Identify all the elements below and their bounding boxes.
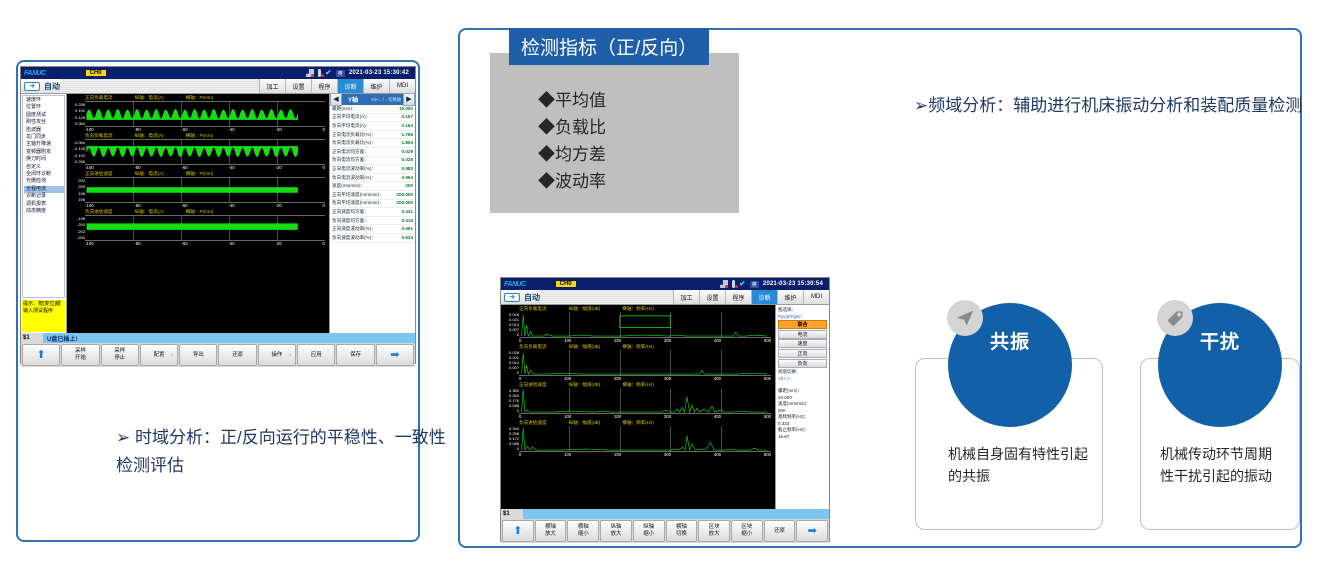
charts-area-freqdomain: 正向负载电流 纵轴：幅值(dB) 横轴：频率(Hz) 0.028 0.021 0… bbox=[501, 305, 775, 509]
ytick: 0 bbox=[501, 446, 519, 451]
data-row: 正向平均速度(mm/min)：200.000 bbox=[330, 191, 415, 200]
titlebar: FANUC CH0 ✔ 英 2021-03-23 15:30:42 bbox=[21, 67, 415, 79]
data-label: 正向电流波动率(%)： bbox=[332, 166, 400, 172]
data-value: 0.983 bbox=[400, 166, 414, 172]
xtick: -20 bbox=[276, 241, 282, 246]
data-label: 螺距(mm)： bbox=[332, 106, 397, 112]
ytick: -200 bbox=[67, 222, 85, 227]
fn-sampling-stop[interactable]: 采样 停止 bbox=[101, 344, 139, 366]
chart-header-4: 负向进给速度 纵轴：电流(A) 横轴：P(mm) bbox=[67, 208, 329, 215]
status-bar-2: $1 bbox=[501, 509, 829, 519]
data-row: 负向电流均方差：0.028 bbox=[330, 157, 415, 166]
fft-yticks-2: 0.028 0.021 0.014 0.007 0 bbox=[501, 350, 519, 375]
mode-bar: ➜ 自动 加工 设置 程序 诊断 维护 MDI bbox=[21, 79, 415, 94]
ytick: -204 bbox=[67, 235, 85, 240]
param-label-pitch: 螺距(mm)： bbox=[777, 388, 828, 395]
mode-filler bbox=[60, 79, 259, 93]
chart-header-3: 正向进给速度 纵轴：电流(A) 横轴：P(mm) bbox=[67, 170, 329, 177]
data-label: 负向电流负载比(%)： bbox=[332, 140, 400, 146]
waveform-3 bbox=[85, 178, 325, 202]
chevron-down-icon: ⌄ bbox=[170, 352, 174, 359]
ytick: 202 bbox=[67, 178, 85, 183]
fn-apply[interactable]: 应用 bbox=[297, 344, 335, 366]
screen-body-2: 正向负载电流 纵轴：幅值(dB) 横轴：频率(Hz) 0.028 0.021 0… bbox=[501, 305, 829, 509]
mode-btn-chengxu[interactable]: 程序 bbox=[311, 79, 337, 93]
fn2-xaxis-zoomin[interactable]: 横轴 放大 bbox=[535, 520, 567, 542]
ytick: 0.256 bbox=[67, 102, 85, 107]
temperature-icon bbox=[732, 280, 735, 288]
fft-yticks-3: 0.352 0.264 0.176 0.088 0 bbox=[501, 388, 519, 413]
data-value: 0.441 bbox=[400, 209, 414, 215]
param-label-basefreq: 基频频率(Hz)： bbox=[777, 414, 828, 421]
annotation-freqdomain: ➢频域分析：辅助进行机床振动分析和装配质量检测 bbox=[914, 92, 1304, 120]
annotation-timedomain: ➢ 时域分析：正/反向运行的平稳性、一致性检测评估 bbox=[116, 424, 446, 480]
data-label: 正向平均速度(mm/min)： bbox=[332, 192, 394, 198]
metric-list: ◆平均值 ◆负载比 ◆均方差 ◆波动率 bbox=[490, 53, 739, 195]
data-row: 负向速度波动率(%)：0.624 bbox=[330, 234, 415, 243]
xtick: 100 bbox=[564, 452, 571, 457]
data-label: 负向速度波动率(%)： bbox=[332, 235, 400, 241]
ytick: -0.256 bbox=[67, 159, 85, 164]
screen-body: 速度环 位置环 圆度测试 刚性攻丝 陷波器 龙门同步 主轴升降速 变频器刚攻 换… bbox=[21, 94, 415, 333]
sidebar-item-tiaojibaobiao[interactable]: 调机报表 bbox=[24, 201, 64, 208]
chart-block-2: 负向负载电流 纵轴：电流(A) 横轴：P(mm) -0.064 -0.128 -… bbox=[67, 132, 329, 170]
data-label: 负向速度均方差： bbox=[332, 218, 400, 224]
chart-header-2: 负向负载电流 纵轴：电流(A) 横轴：P(mm) bbox=[67, 132, 329, 139]
data-value: 200 bbox=[403, 183, 413, 189]
fn2-yaxis-zoomout[interactable]: 纵轴 缩小 bbox=[633, 520, 665, 542]
data-value: 0.029 bbox=[400, 149, 414, 155]
chevron-down-icon: ⌄ bbox=[288, 352, 292, 359]
data-value: 0.416 bbox=[400, 218, 414, 224]
ytick: 200 bbox=[67, 184, 85, 189]
paper-plane-icon bbox=[947, 300, 983, 336]
fft-yticks-4: 0.344 0.258 0.172 0.086 0 bbox=[501, 426, 519, 451]
fft-chart-block-3: 正向进给速度 纵轴：幅值(dB) 横轴：频率(Hz) 0.352 0.264 0… bbox=[501, 381, 775, 419]
megaphone-icon bbox=[1157, 300, 1193, 336]
ytick: -198 bbox=[67, 216, 85, 221]
data-value: 0.163 bbox=[400, 123, 414, 129]
metric-card-title: 检测指标（正/反向） bbox=[509, 28, 709, 65]
ytick: -0.192 bbox=[67, 153, 85, 158]
status-bar: $1 U盘已插上! bbox=[21, 333, 415, 343]
xticks-4: -100 -80 -60 -40 -20 0 bbox=[85, 241, 325, 246]
ytick: 0 bbox=[501, 332, 519, 337]
fn-label: 应用 bbox=[311, 352, 322, 359]
fn-label: 纵轴 放大 bbox=[611, 524, 622, 538]
sidebar-item-gangxing[interactable]: 刚性攻丝 bbox=[24, 119, 64, 126]
data-panel: ◀ Y轴 Alt+←/→切换轴 ▶ 螺距(mm)：10.000 正向平均电流(A… bbox=[329, 94, 415, 333]
fn2-block-zoomin[interactable]: 区块 放大 bbox=[698, 520, 730, 542]
cnc-screen-timedomain: FANUC CH0 ✔ 英 2021-03-23 15:30:42 ➜ 自动 加… bbox=[20, 66, 416, 364]
channel-indicator: $1 bbox=[501, 509, 523, 519]
mode-label: 自动 bbox=[524, 292, 540, 303]
channel-badge: CH0 bbox=[556, 281, 576, 287]
data-label: 正向电流负载比(%)： bbox=[332, 132, 400, 138]
data-value: 0.624 bbox=[400, 235, 414, 241]
prev-axis-button[interactable]: ◀ bbox=[330, 93, 342, 106]
waveform-2 bbox=[85, 140, 325, 164]
fn-label: 还原 bbox=[232, 352, 243, 359]
channel-indicator: $1 bbox=[21, 333, 43, 343]
data-row: 螺距(mm)：10.000 bbox=[330, 105, 415, 114]
mode-btn-mdi[interactable]: MDI bbox=[389, 79, 415, 93]
data-row: 负向电流波动率(%)：0.964 bbox=[330, 174, 415, 183]
ytick: 198 bbox=[67, 191, 85, 196]
data-row: 正向速度均方差：0.441 bbox=[330, 208, 415, 217]
fn-label: 纵轴 缩小 bbox=[643, 524, 654, 538]
mode-btn-chengxu[interactable]: 程序 bbox=[725, 290, 751, 304]
xtick: -40 bbox=[228, 241, 234, 246]
xtick: 500 bbox=[764, 452, 771, 457]
plot-3: 202 200 198 196 bbox=[85, 177, 325, 203]
data-value: 0.157 bbox=[400, 114, 414, 120]
fn2-xaxis-switch[interactable]: 横轴 切换 bbox=[666, 520, 698, 542]
fn2-restore[interactable]: 还原 bbox=[764, 520, 796, 542]
fft-plot-2: 0.028 0.021 0.014 0.007 0 bbox=[519, 350, 771, 376]
cnc-screen-freqdomain: FANUC CH0 ✔ 英 2021-03-23 15:30:54 ➜ 自动 加… bbox=[500, 277, 830, 542]
mode-btn-weihu[interactable]: 维护 bbox=[363, 79, 389, 93]
fn-label: 导出 bbox=[193, 352, 204, 359]
check-icon: ✔ bbox=[739, 280, 746, 288]
data-panel-nav: ◀ Y轴 Alt+←/→切换轴 ▶ bbox=[330, 94, 415, 105]
data-label: 负向电流均方差： bbox=[332, 157, 400, 163]
xtick: -60 bbox=[181, 241, 187, 246]
metric-item-average: ◆平均值 bbox=[538, 87, 739, 114]
fn-label: 横轴 放大 bbox=[545, 524, 556, 538]
data-label: 负向电流波动率(%)： bbox=[332, 175, 400, 181]
data-value: 0.964 bbox=[400, 175, 414, 181]
param-value-cutofffreq: 16.67 bbox=[777, 434, 828, 440]
fn2-yaxis-zoomin[interactable]: 纵轴 放大 bbox=[600, 520, 632, 542]
check-icon: ✔ bbox=[325, 69, 332, 77]
fft-waveform-1 bbox=[519, 312, 771, 337]
fn-label: 操作 bbox=[272, 352, 283, 359]
panel-btn-dianliu[interactable]: 电流 bbox=[778, 330, 827, 339]
chart-header-1: 正向负载电流 纵轴：电流(A) 横轴：P(mm) bbox=[67, 94, 329, 101]
axis-title: Y轴 bbox=[342, 95, 358, 104]
data-label: 正向平均电流(A)： bbox=[332, 114, 400, 120]
data-rows: 螺距(mm)：10.000 正向平均电流(A)：0.157 负向平均电流(A)：… bbox=[330, 105, 415, 243]
mode-buttons: 加工 设置 程序 诊断 维护 MDI bbox=[259, 79, 415, 93]
xtick: 400 bbox=[714, 452, 721, 457]
metric-item-fluctuation: ◆波动率 bbox=[538, 168, 739, 195]
mode-bar-2: ➜ 自动 加工 设置 程序 诊断 维护 MDI bbox=[501, 290, 829, 305]
fn-label: 采样 停止 bbox=[114, 348, 125, 362]
data-value: 0.028 bbox=[400, 157, 414, 163]
waveform-1 bbox=[85, 102, 325, 126]
fn2-block-zoomout[interactable]: 区块 缩小 bbox=[731, 520, 763, 542]
sidebar-item-weizhi[interactable]: 位置环 bbox=[24, 104, 64, 111]
channel-badge: CH0 bbox=[86, 70, 106, 76]
ytick: 196 bbox=[67, 197, 85, 202]
param-label-speed: 速度(mm/min)： bbox=[777, 401, 828, 408]
data-value: 200.000 bbox=[394, 200, 413, 206]
fn-label: 区块 缩小 bbox=[741, 524, 752, 538]
data-label: 负向平均速度(mm/min)： bbox=[332, 200, 394, 206]
sidebar-item-dongtaijingdu[interactable]: 动态精度 bbox=[24, 208, 64, 215]
fft-chart-header-3: 正向进给速度 纵轴：幅值(dB) 横轴：频率(Hz) bbox=[501, 381, 775, 388]
status-message: U盘已插上! bbox=[43, 334, 77, 343]
fft-chart-block-1: 正向负载电流 纵轴：幅值(dB) 横轴：频率(Hz) 0.028 0.021 0… bbox=[501, 305, 775, 343]
fft-plot-4: 0.344 0.258 0.172 0.086 0 bbox=[519, 426, 771, 452]
mode-filler bbox=[540, 290, 673, 304]
data-row: 速度(mm/min)：200 bbox=[330, 182, 415, 191]
panel-btn-sudu[interactable]: 速度 bbox=[778, 339, 827, 348]
network-icon bbox=[720, 280, 728, 288]
param-label-cutofffreq: 截止频率(Hz)： bbox=[777, 427, 828, 434]
fft-chart-block-4: 负向进给速度 纵轴：幅值(dB) 横轴：频率(Hz) 0.344 0.258 0… bbox=[501, 419, 775, 457]
fn-label: 区块 放大 bbox=[709, 524, 720, 538]
data-row: 负向平均电流(A)：0.163 bbox=[330, 122, 415, 131]
sidebar-item-huandao[interactable]: 换刀时间 bbox=[24, 156, 64, 163]
xtick: -100 bbox=[85, 241, 94, 246]
fn-label: 横轴 切换 bbox=[676, 524, 687, 538]
sidebar-hint: 提示：按[复位]键输入测试程序 bbox=[22, 300, 65, 332]
metric-card: ◆平均值 ◆负载比 ◆均方差 ◆波动率 bbox=[490, 53, 739, 213]
fn-operate[interactable]: 操作⌄ bbox=[258, 344, 296, 366]
ytick: -202 bbox=[67, 229, 85, 234]
badge-title-resonance: 共振 bbox=[990, 327, 1030, 354]
badge-text-interference: 机械传动环节周期性干扰引起的振动 bbox=[1160, 443, 1285, 487]
fn-label: 还原 bbox=[774, 528, 785, 535]
titlebar-2: FANUC CH0 ✔ 英 2021-03-23 15:30:54 bbox=[501, 278, 829, 290]
fn-label: 采样 开始 bbox=[75, 348, 86, 362]
temperature-icon bbox=[318, 69, 321, 77]
fn-up-button[interactable]: ⬆ bbox=[22, 344, 60, 366]
fn-sampling-start[interactable]: 采样 开始 bbox=[61, 344, 99, 366]
xtick: 300 bbox=[664, 452, 671, 457]
datetime: 2021-03-23 15:30:54 bbox=[763, 281, 826, 287]
fn2-xaxis-zoomout[interactable]: 横轴 缩小 bbox=[567, 520, 599, 542]
sidebar-item-zidingyi[interactable]: 自定义 bbox=[24, 164, 64, 171]
ytick: -0.064 bbox=[67, 140, 85, 145]
mode-buttons-2: 加工 设置 程序 诊断 维护 MDI bbox=[673, 290, 829, 304]
fn-label: 横轴 缩小 bbox=[578, 524, 589, 538]
yticks-4: -198 -200 -202 -204 bbox=[67, 216, 85, 240]
brand-logo: FANUC bbox=[501, 281, 526, 288]
network-icon bbox=[306, 69, 314, 77]
data-value: 1.853 bbox=[400, 140, 414, 146]
data-row: 正向平均电流(A)：0.157 bbox=[330, 114, 415, 123]
badge-title-interference: 干扰 bbox=[1200, 327, 1240, 354]
xtick: 0 bbox=[519, 452, 521, 457]
freq-side-panel: 图选择： PgUp/PgDn 联合 电流 速度 正向 负向 视窗切换： Alt+… bbox=[775, 305, 829, 509]
axis-switch-hint: Alt+←/→切换轴 bbox=[371, 97, 403, 103]
window-switch-label: 视窗切换： bbox=[777, 369, 828, 376]
data-value: 200.000 bbox=[394, 192, 413, 198]
panel-btn-zhengxiang[interactable]: 正向 bbox=[778, 349, 827, 358]
function-bar: ⬆ 采样 开始 采样 停止 配置⌄ 导出 还原 操作⌄ 应用 保存 ➡ bbox=[21, 343, 415, 367]
fft-waveform-3 bbox=[519, 388, 771, 413]
panel-btn-lianhe[interactable]: 联合 bbox=[778, 320, 827, 329]
mode-btn-shezhi[interactable]: 设置 bbox=[285, 79, 311, 93]
mode-arrow-icon: ➜ bbox=[504, 293, 520, 302]
language-indicator: 英 bbox=[336, 70, 345, 77]
brand-logo: FANUC bbox=[21, 70, 46, 77]
sidebar-item-xianbo[interactable]: 陷波器 bbox=[24, 127, 64, 134]
fft-waveform-2 bbox=[519, 350, 771, 375]
metric-item-loadratio: ◆负载比 bbox=[538, 114, 739, 141]
xtick: -80 bbox=[134, 241, 140, 246]
data-label: 速度(mm/min)： bbox=[332, 183, 403, 189]
waveform-4 bbox=[85, 216, 325, 240]
data-row: 正向速度波动率(%)：0.661 bbox=[330, 225, 415, 234]
fn-label: 配置 bbox=[154, 352, 165, 359]
plot-2: -0.064 -0.128 -0.192 -0.256 bbox=[85, 139, 325, 165]
function-bar-2: ⬆ 横轴 放大 横轴 缩小 纵轴 放大 纵轴 缩小 横轴 切换 区块 放大 区块… bbox=[501, 519, 829, 543]
fft-chart-header-4: 负向进给速度 纵轴：幅值(dB) 横轴：频率(Hz) bbox=[501, 419, 775, 426]
fft-plot-3: 0.352 0.264 0.176 0.088 0 bbox=[519, 388, 771, 414]
yticks-1: 0.256 0.192 0.128 0.064 bbox=[67, 102, 85, 126]
fn-next-button[interactable]: ➡ bbox=[376, 344, 414, 366]
fn-label: 保存 bbox=[350, 352, 361, 359]
xtick: 0 bbox=[323, 241, 325, 246]
chart-select-label: 图选择： bbox=[777, 306, 828, 313]
xtick: 200 bbox=[614, 452, 621, 457]
fn-restore[interactable]: 还原 bbox=[218, 344, 256, 366]
fft-plot-1: 0.028 0.021 0.014 0.007 0 bbox=[519, 312, 771, 338]
data-row: 正向电流波动率(%)：0.983 bbox=[330, 165, 415, 174]
fn2-next-button[interactable]: ➡ bbox=[796, 520, 828, 542]
language-indicator: 英 bbox=[750, 281, 759, 288]
data-label: 正向速度均方差： bbox=[332, 209, 400, 215]
data-label: 负向平均电流(A)： bbox=[332, 123, 400, 129]
plot-4: -198 -200 -202 -204 bbox=[85, 215, 325, 241]
next-axis-button[interactable]: ▶ bbox=[403, 93, 415, 106]
data-row: 负向平均速度(mm/min)：200.000 bbox=[330, 200, 415, 209]
mode-btn-shezhi[interactable]: 设置 bbox=[699, 290, 725, 304]
sidebar-item-zhenduanjilu[interactable]: 诊断记录 bbox=[24, 193, 64, 200]
mode-btn-jiagong[interactable]: 加工 bbox=[673, 290, 699, 304]
chart-select-key: PgUp/PgDn bbox=[777, 313, 828, 319]
chart-block-3: 正向进给速度 纵轴：电流(A) 横轴：P(mm) 202 200 198 196 bbox=[67, 170, 329, 208]
mode-btn-zhenduan[interactable]: 诊断 bbox=[751, 290, 777, 304]
data-value: 0.661 bbox=[400, 226, 414, 232]
ytick: 0.192 bbox=[67, 108, 85, 113]
fft-chart-block-2: 负向负载电流 纵轴：幅值(dB) 横轴：频率(Hz) 0.028 0.021 0… bbox=[501, 343, 775, 381]
fft-waveform-4 bbox=[519, 426, 771, 451]
chart-block-4: 负向进给速度 纵轴：电流(A) 横轴：P(mm) -198 -200 -202 … bbox=[67, 208, 329, 246]
sidebar-item-guangshan[interactable]: 光栅检测 bbox=[24, 178, 64, 185]
ytick: 0 bbox=[501, 408, 519, 413]
fft-yticks-1: 0.028 0.021 0.014 0.007 0 bbox=[501, 312, 519, 337]
fn2-up-button[interactable]: ⬆ bbox=[502, 520, 534, 542]
datetime: 2021-03-23 15:30:42 bbox=[349, 70, 412, 76]
metric-item-variance: ◆均方差 bbox=[538, 141, 739, 168]
charts-area-timedomain: 正向负载电流 纵轴：电流(A) 横轴：P(mm) 0.256 0.192 0.1… bbox=[67, 94, 329, 333]
fft-chart-header-2: 负向负载电流 纵轴：幅值(dB) 横轴：频率(Hz) bbox=[501, 343, 775, 350]
chart-block-1: 正向负载电流 纵轴：电流(A) 横轴：P(mm) 0.256 0.192 0.1… bbox=[67, 94, 329, 132]
ytick: 0 bbox=[501, 370, 519, 375]
data-label: 正向速度波动率(%)： bbox=[332, 226, 400, 232]
ytick: 0.128 bbox=[67, 115, 85, 120]
fft-xticks-4: 0 100 200 300 400 500 bbox=[519, 452, 771, 457]
mode-btn-weihu[interactable]: 维护 bbox=[777, 290, 803, 304]
fn-export[interactable]: 导出 bbox=[179, 344, 217, 366]
plot-1: 0.256 0.192 0.128 0.064 bbox=[85, 101, 325, 127]
yticks-2: -0.064 -0.128 -0.192 -0.256 bbox=[67, 140, 85, 164]
panel-btn-fuxiang[interactable]: 负向 bbox=[778, 359, 827, 368]
mode-label: 自动 bbox=[44, 81, 60, 92]
mode-btn-zhenduan[interactable]: 诊断 bbox=[337, 79, 363, 93]
data-row: 正向电流负载比(%)：1.785 bbox=[330, 131, 415, 140]
mode-btn-mdi[interactable]: MDI bbox=[803, 290, 829, 304]
data-row: 正向电流均方差：0.029 bbox=[330, 148, 415, 157]
sidebar-list: 速度环 位置环 圆度测试 刚性攻丝 陷波器 龙门同步 主轴升降速 变频器刚攻 换… bbox=[22, 95, 65, 298]
fn-save[interactable]: 保存 bbox=[336, 344, 374, 366]
mode-arrow-icon: ➜ bbox=[24, 82, 40, 91]
yticks-3: 202 200 198 196 bbox=[67, 178, 85, 202]
data-label: 正向电流均方差： bbox=[332, 149, 400, 155]
sidebar: 速度环 位置环 圆度测试 刚性攻丝 陷波器 龙门同步 主轴升降速 变频器刚攻 换… bbox=[21, 94, 67, 333]
ytick: 0.064 bbox=[67, 121, 85, 126]
sidebar-item-zhuzhou[interactable]: 主轴升降速 bbox=[24, 141, 64, 148]
data-row: 负向速度均方差：0.416 bbox=[330, 217, 415, 226]
fft-chart-header-1: 正向负载电流 纵轴：幅值(dB) 横轴：频率(Hz) bbox=[501, 305, 775, 312]
mode-btn-jiagong[interactable]: 加工 bbox=[259, 79, 285, 93]
ytick: -0.128 bbox=[67, 146, 85, 151]
fn-config[interactable]: 配置⌄ bbox=[140, 344, 178, 366]
data-row: 负向电流负载比(%)：1.853 bbox=[330, 139, 415, 148]
data-value: 1.785 bbox=[400, 132, 414, 138]
badge-text-resonance: 机械自身固有特性引起的共振 bbox=[948, 443, 1088, 487]
data-value: 10.000 bbox=[397, 106, 413, 112]
